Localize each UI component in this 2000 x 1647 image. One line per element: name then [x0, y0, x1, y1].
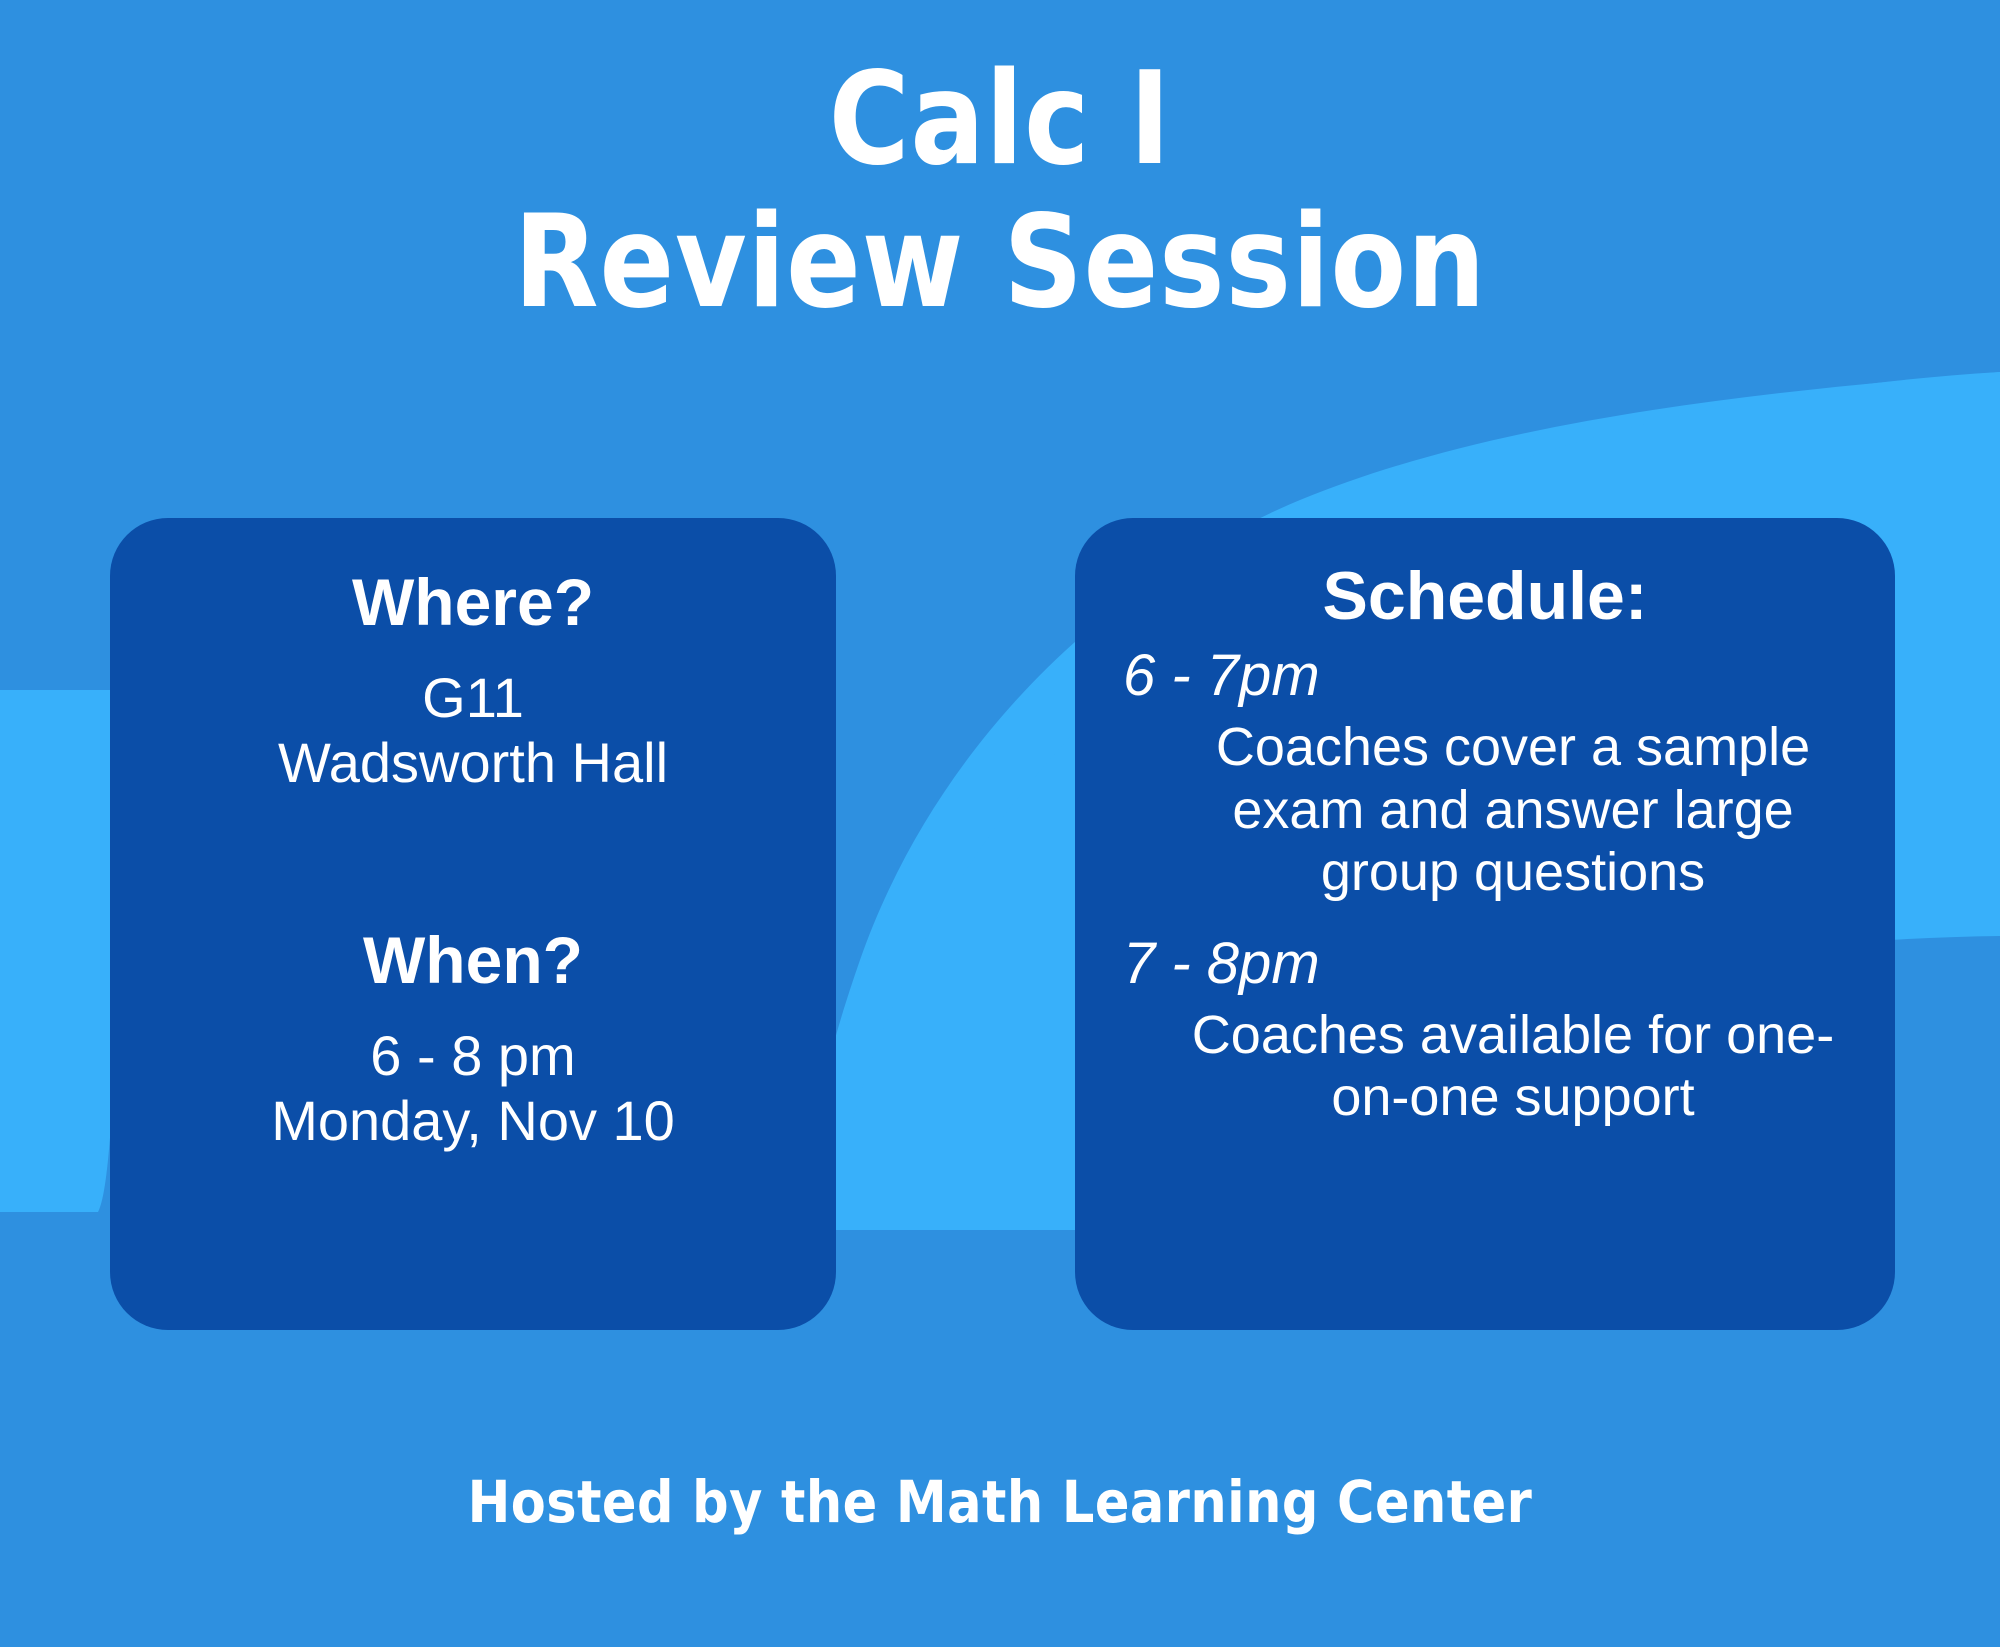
- schedule-block: 7 - 8pm Coaches available for one-on-one…: [1117, 932, 1853, 1129]
- schedule-heading: Schedule:: [1117, 558, 1853, 634]
- where-location-line-1: G11: [144, 666, 802, 731]
- where-location-line-2: Wadsworth Hall: [144, 731, 802, 796]
- poster-title: Calc I Review Session: [0, 48, 2000, 335]
- where-when-card: Where? G11 Wadsworth Hall When? 6 - 8 pm…: [110, 518, 836, 1330]
- schedule-time-slot: 6 - 7pm: [1117, 644, 1853, 708]
- when-time-line: 6 - 8 pm: [144, 1024, 802, 1089]
- schedule-card: Schedule: 6 - 7pm Coaches cover a sample…: [1075, 518, 1895, 1330]
- title-line-1: Calc I: [140, 48, 1860, 191]
- schedule-description: Coaches cover a sample exam and answer l…: [1117, 708, 1853, 904]
- schedule-time-slot: 7 - 8pm: [1117, 932, 1853, 996]
- title-line-2: Review Session: [140, 191, 1860, 334]
- when-heading: When?: [144, 924, 802, 998]
- poster-canvas: Calc I Review Session Where? G11 Wadswor…: [0, 0, 2000, 1647]
- poster-footer: Hosted by the Math Learning Center: [0, 1468, 2000, 1536]
- wave-left-light: [0, 690, 120, 1212]
- where-heading: Where?: [144, 566, 802, 640]
- footer-text: Hosted by the Math Learning Center: [468, 1468, 1533, 1536]
- when-date-line: Monday, Nov 10: [144, 1089, 802, 1154]
- schedule-description: Coaches available for one-on-one support: [1117, 996, 1853, 1129]
- schedule-block: 6 - 7pm Coaches cover a sample exam and …: [1117, 644, 1853, 904]
